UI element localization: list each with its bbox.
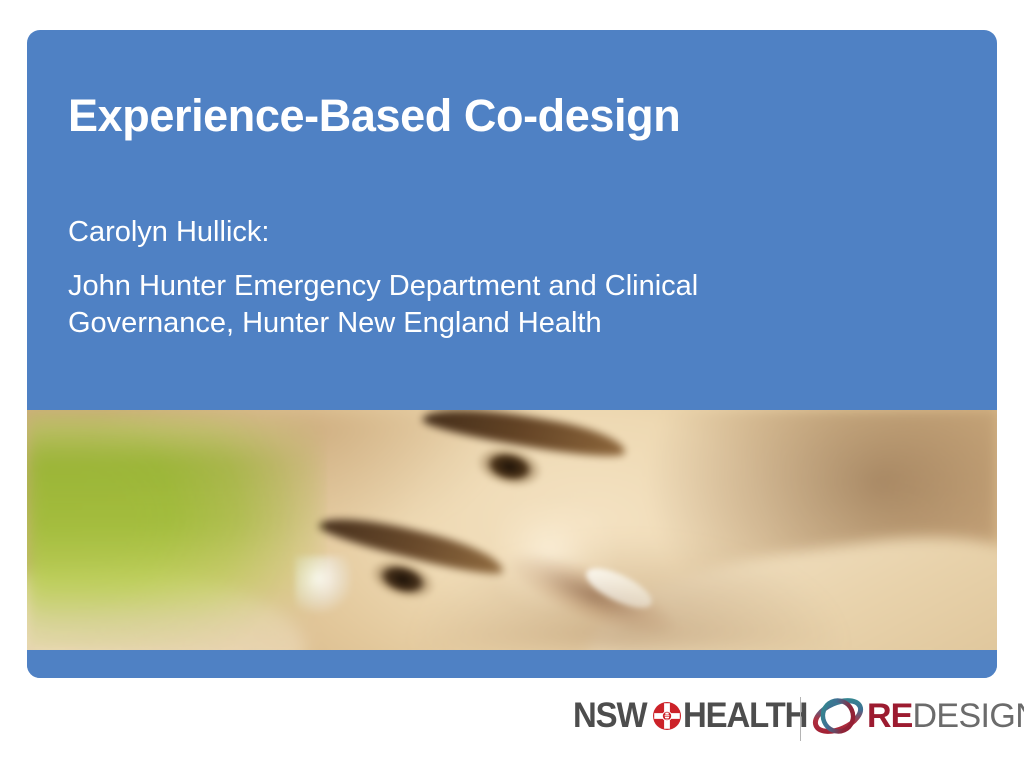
footer-logo-strip: NSW HEALTH <box>0 690 1024 752</box>
presentation-slide: Experience-Based Co-design Carolyn Hulli… <box>27 30 997 678</box>
slide-photo <box>27 410 997 650</box>
nsw-health-logo: NSW HEALTH <box>573 694 815 738</box>
redesign-swoosh-icon <box>812 697 864 735</box>
nsw-health-logo-text-nsw: NSW <box>573 696 646 736</box>
slide-text-area: Experience-Based Co-design Carolyn Hulli… <box>27 30 997 410</box>
redesign-logo-text-design: DESIGN <box>912 697 1024 736</box>
nsw-health-logo-text-health: HEALTH <box>683 696 807 736</box>
presenter-name: Carolyn Hullick: <box>68 215 269 250</box>
presenter-affiliation: John Hunter Emergency Department and Cli… <box>68 268 858 342</box>
photo-soft-focus <box>27 410 997 650</box>
redesign-logo-text-re: RE <box>867 697 912 736</box>
logo-divider <box>800 697 801 741</box>
nsw-health-cross-emblem <box>652 701 682 731</box>
slide-title: Experience-Based Co-design <box>68 92 680 139</box>
slide-footer-bar <box>27 650 997 678</box>
redesign-logo: RE DESIGN <box>812 694 1024 738</box>
